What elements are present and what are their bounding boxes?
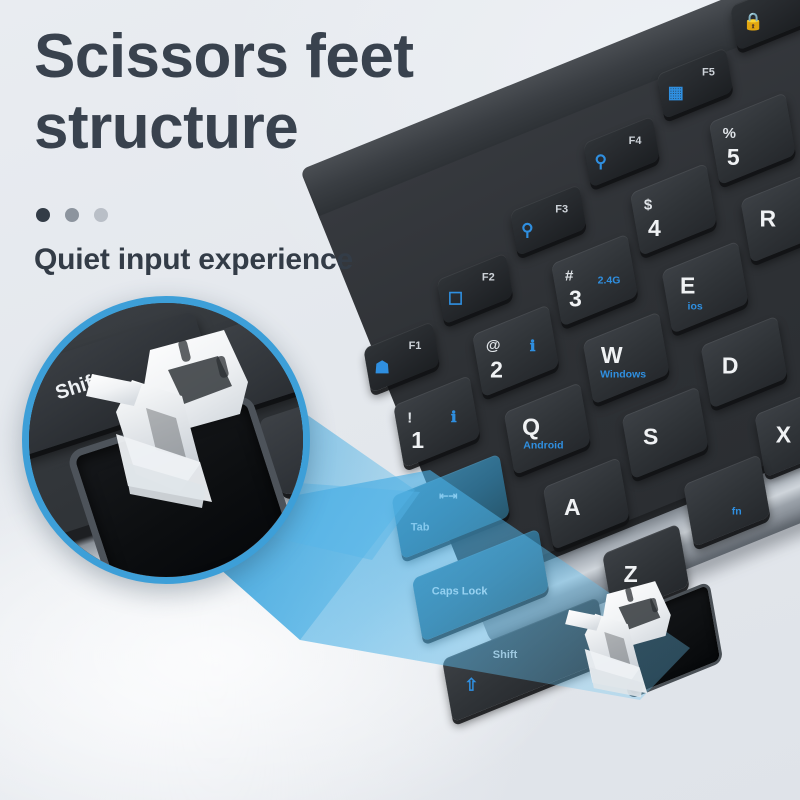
magnifier-callout: ⇧ Shift [22, 296, 310, 584]
key-3-alt: 2.4G [598, 276, 621, 287]
key-2[interactable]: @ 2 ℹ [472, 304, 559, 397]
magnified-shift-icon: ⇧ [22, 394, 29, 423]
key-fn[interactable]: fn [683, 454, 770, 547]
magnifier-content: ⇧ Shift [22, 296, 310, 584]
key-w[interactable]: W Windows [583, 311, 670, 404]
key-e-alt: ios [688, 301, 703, 312]
key-x-primary: X [776, 424, 791, 447]
key-3-shift: # [565, 268, 573, 283]
key-a-primary: A [564, 496, 581, 519]
pagination-dot-1[interactable] [36, 208, 50, 222]
key-1[interactable]: ! 1 ℹ [393, 375, 480, 468]
key-4-primary: 4 [648, 217, 661, 240]
key-x[interactable]: X [754, 384, 800, 477]
pagination-dot-2[interactable] [65, 208, 79, 222]
key-1-shift: ! [407, 410, 412, 425]
key-q-primary: Q [522, 416, 540, 439]
key-tab[interactable]: Tab ⇤⇥ [391, 454, 510, 560]
shift-arrow-icon: ⇧ [464, 677, 478, 694]
key-fn-label: fn [732, 507, 742, 518]
bluetooth-icon: ℹ [530, 339, 536, 354]
key-q[interactable]: Q Android [504, 382, 591, 475]
key-5[interactable]: % 5 [709, 92, 796, 185]
key-s[interactable]: S [622, 386, 709, 479]
key-f1[interactable]: ☗ F1 [363, 321, 439, 393]
key-5-shift: % [723, 126, 736, 141]
key-d[interactable]: D [701, 315, 788, 408]
key-r[interactable]: R [740, 170, 800, 263]
key-caps-lock-label: Caps Lock [432, 586, 488, 597]
key-5-primary: 5 [727, 146, 740, 169]
app-switch-icon: ☐ [448, 291, 463, 308]
page-title-line-2: structure [34, 93, 634, 164]
key-w-alt: Windows [600, 369, 646, 380]
pagination-dots[interactable] [36, 208, 108, 222]
key-w-primary: W [601, 344, 623, 367]
key-r-primary: R [760, 208, 777, 231]
key-4-shift: $ [644, 198, 652, 213]
key-3[interactable]: # 3 2.4G [551, 234, 638, 327]
key-f5-label: F5 [702, 67, 715, 78]
key-a[interactable]: A [543, 457, 630, 550]
page-title-line-1: Scissors feet [34, 22, 414, 91]
tab-arrows-icon: ⇤⇥ [439, 492, 457, 503]
key-f1-label: F1 [409, 341, 422, 352]
search-assistant-icon: ⚲ [521, 222, 533, 239]
key-d-primary: D [722, 355, 739, 378]
pagination-dot-3[interactable] [94, 208, 108, 222]
key-4[interactable]: $ 4 [630, 163, 717, 256]
page-subtitle: Quiet input experience [34, 243, 353, 277]
key-e[interactable]: E ios [662, 241, 749, 334]
key-2-primary: 2 [490, 358, 503, 381]
scissor-switch-on-keyboard [556, 572, 706, 722]
key-shift-label: Shift [493, 650, 517, 661]
bluetooth-icon: ℹ [451, 410, 457, 425]
key-3-primary: 3 [569, 288, 582, 311]
key-tab-label: Tab [411, 522, 430, 533]
home-icon: ☗ [375, 359, 390, 376]
page-title: Scissors feet structure [34, 22, 634, 163]
calculator-icon: ▦ [668, 84, 684, 101]
key-1-primary: 1 [411, 429, 424, 452]
magnified-scissor-switch [72, 316, 302, 546]
key-f3-label: F3 [555, 204, 568, 215]
key-s-primary: S [643, 425, 658, 448]
key-2-shift: @ [486, 338, 501, 353]
key-f2[interactable]: ☐ F2 [437, 253, 513, 325]
key-f2-label: F2 [482, 273, 495, 284]
key-f3[interactable]: ⚲ F3 [510, 184, 586, 256]
key-q-alt: Android [523, 440, 563, 451]
lock-icon: 🔒 [743, 13, 764, 30]
key-e-primary: E [680, 275, 695, 298]
